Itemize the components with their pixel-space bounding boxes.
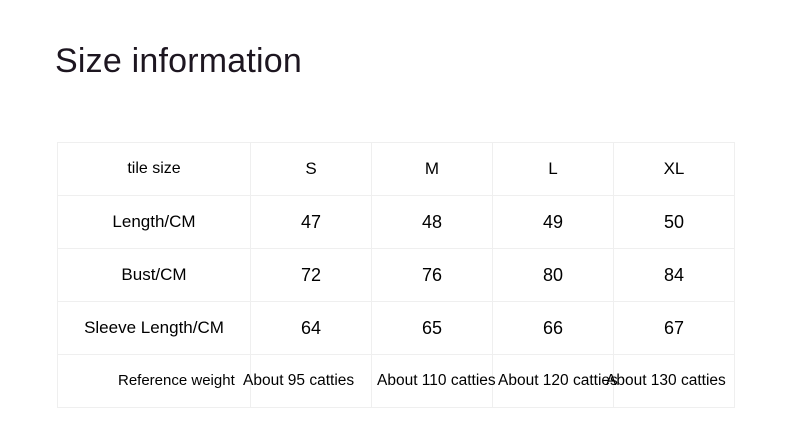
cell-bust-l: 80 <box>493 249 614 302</box>
cell-weight-s-text: About 95 catties <box>243 372 393 390</box>
cell-weight-xl-text: About 130 catties <box>606 372 756 390</box>
cell-length-s: 47 <box>251 196 372 249</box>
table-row: Bust/CM 72 76 80 84 <box>58 249 735 302</box>
cell-bust-s: 72 <box>251 249 372 302</box>
table-header-row: tile size S M L XL <box>58 143 735 196</box>
cell-weight-m: About 110 catties <box>372 355 493 408</box>
cell-weight-s: About 95 catties <box>251 355 372 408</box>
cell-weight-l: About 120 catties <box>493 355 614 408</box>
cell-sleeve-xl: 67 <box>614 302 735 355</box>
table-row: Reference weight About 95 catties About … <box>58 355 735 408</box>
cell-length-xl: 50 <box>614 196 735 249</box>
size-chart-table: tile size S M L XL Length/CM 47 48 49 50… <box>57 142 735 408</box>
cell-sleeve-s: 64 <box>251 302 372 355</box>
cell-weight-m-text: About 110 catties <box>377 372 463 390</box>
header-size-xl: XL <box>614 143 735 196</box>
cell-length-l: 49 <box>493 196 614 249</box>
cell-weight-l-text: About 120 catties <box>498 372 584 390</box>
row-label-reference-weight-text: Reference weight <box>118 372 190 390</box>
cell-length-m: 48 <box>372 196 493 249</box>
header-label-cell: tile size <box>58 143 251 196</box>
cell-sleeve-m: 65 <box>372 302 493 355</box>
table-row: Sleeve Length/CM 64 65 66 67 <box>58 302 735 355</box>
row-label-bust: Bust/CM <box>58 249 251 302</box>
row-label-length: Length/CM <box>58 196 251 249</box>
header-size-s: S <box>251 143 372 196</box>
header-size-m: M <box>372 143 493 196</box>
table-row: Length/CM 47 48 49 50 <box>58 196 735 249</box>
header-size-l: L <box>493 143 614 196</box>
cell-weight-xl: About 130 catties <box>614 355 735 408</box>
page-title: Size information <box>55 38 302 84</box>
cell-bust-m: 76 <box>372 249 493 302</box>
cell-sleeve-l: 66 <box>493 302 614 355</box>
row-label-sleeve-length: Sleeve Length/CM <box>58 302 251 355</box>
row-label-reference-weight: Reference weight <box>58 355 251 408</box>
cell-bust-xl: 84 <box>614 249 735 302</box>
